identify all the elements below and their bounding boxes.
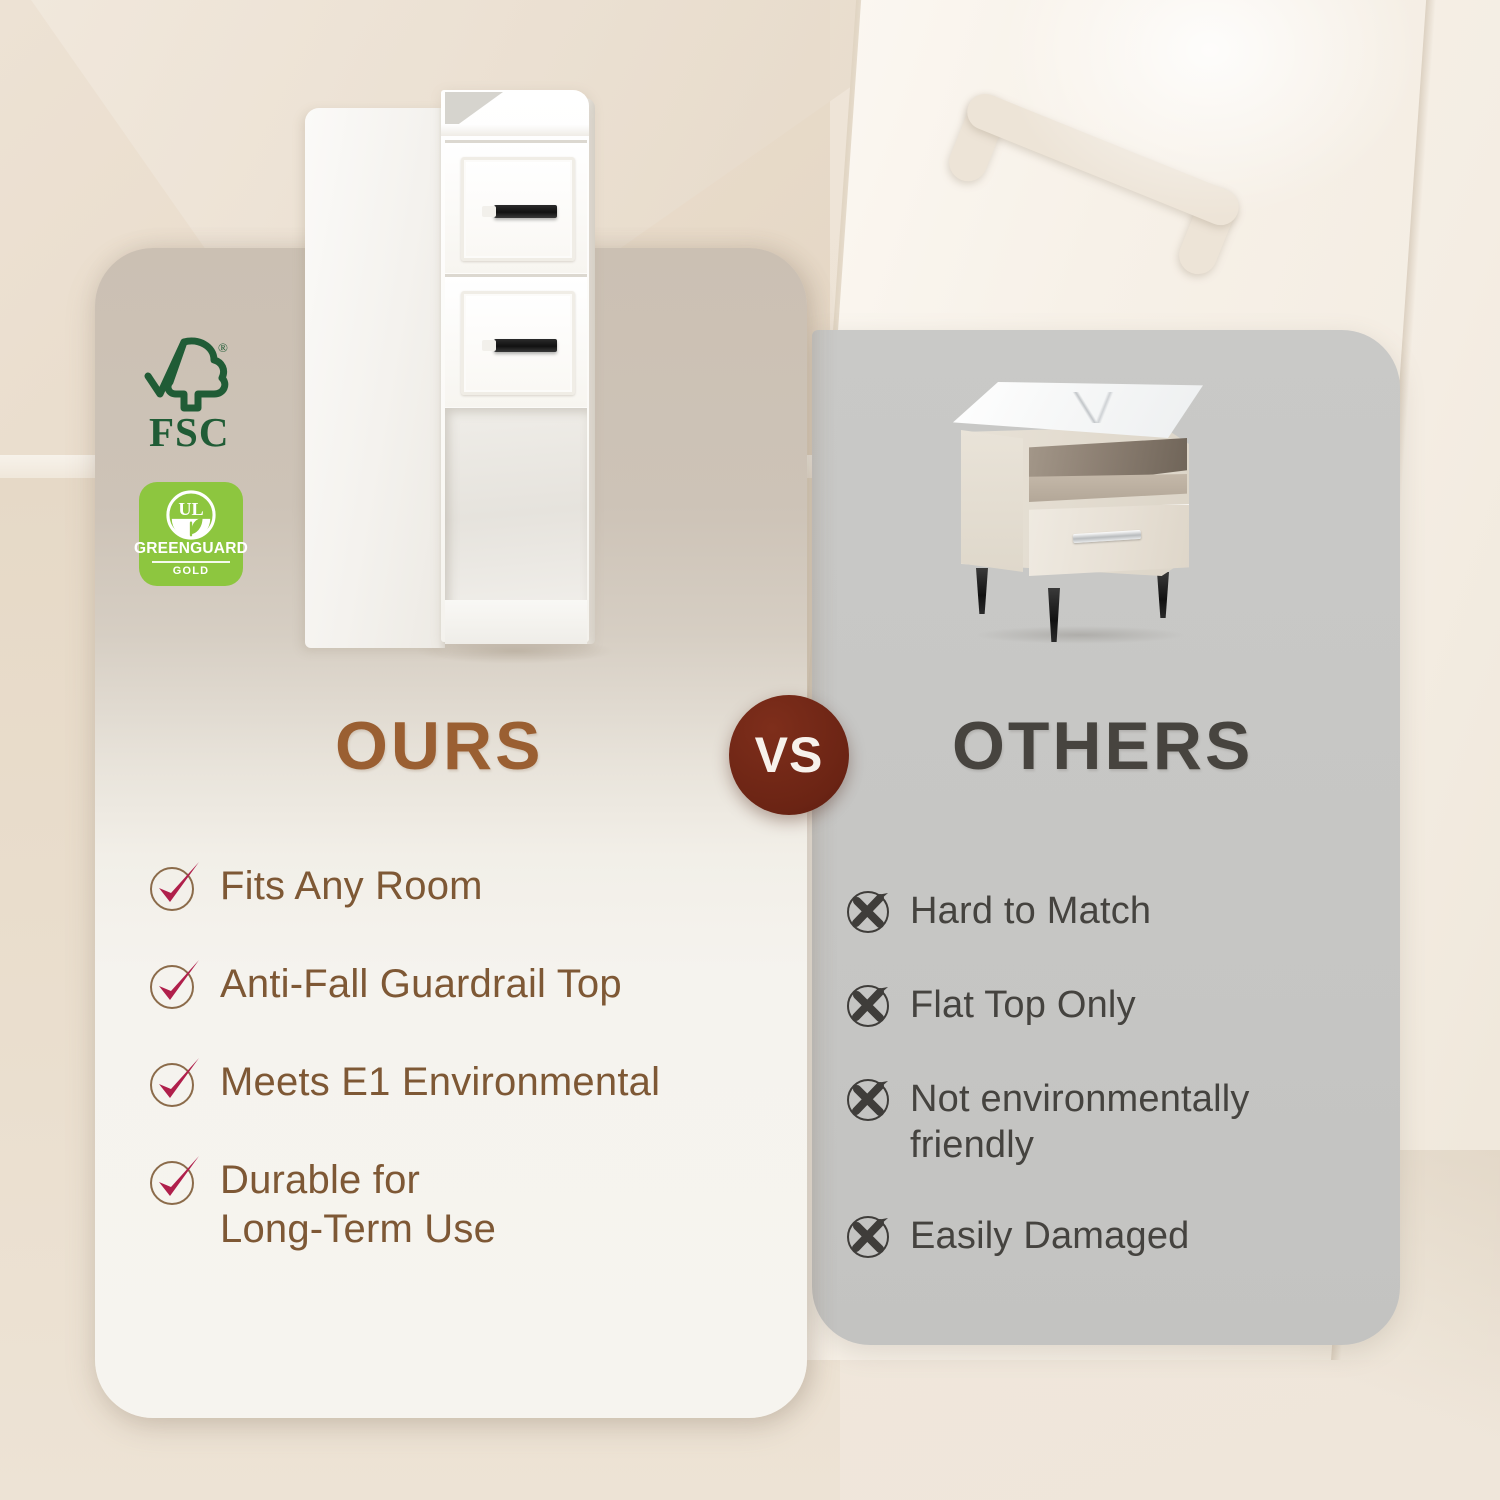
cabinet-drawer-panel bbox=[461, 157, 575, 261]
greenguard-label: GREENGUARD bbox=[134, 541, 248, 557]
greenguard-tier: GOLD bbox=[173, 566, 210, 577]
cabinet-side-panel bbox=[305, 108, 445, 648]
cabinet-black-handle-icon bbox=[494, 339, 557, 352]
x-circle-icon bbox=[844, 886, 894, 936]
others-drawback-list: Hard to Match Flat Top Only bbox=[844, 888, 1364, 1307]
x-circle-icon bbox=[844, 1074, 894, 1124]
check-circle-icon bbox=[146, 956, 202, 1012]
list-item: Not environmentally friendly bbox=[844, 1076, 1364, 1169]
x-circle-icon bbox=[844, 980, 894, 1030]
cabinet-open-shelf bbox=[445, 408, 587, 644]
vs-label: VS bbox=[755, 730, 824, 780]
list-item-label: Durable for bbox=[220, 1158, 420, 1202]
list-item: Fits Any Room bbox=[146, 862, 766, 918]
nightstand-leg bbox=[976, 568, 988, 614]
check-circle-icon bbox=[146, 858, 202, 914]
list-item: Durable for Long-Term Use bbox=[146, 1156, 766, 1254]
comparison-infographic: ® FSC UL GREENGUARD GOLD bbox=[0, 0, 1500, 1500]
nightstand-marble-top bbox=[953, 382, 1203, 438]
cabinet-black-handle-icon bbox=[494, 205, 557, 218]
cabinet-drawer-bottom bbox=[445, 274, 587, 407]
nightstand-side-panel bbox=[961, 430, 1023, 572]
list-item-label: Easily Damaged bbox=[910, 1213, 1190, 1259]
list-item: Easily Damaged bbox=[844, 1213, 1364, 1263]
list-item: Anti-Fall Guardrail Top bbox=[146, 960, 766, 1016]
background-light-glow bbox=[1000, 0, 1420, 220]
greenguard-divider bbox=[152, 561, 230, 563]
others-product-shadow bbox=[975, 626, 1185, 644]
list-item-label-line2: friendly bbox=[910, 1124, 1034, 1166]
list-item-label: Fits Any Room bbox=[220, 862, 483, 911]
check-circle-icon bbox=[146, 1054, 202, 1110]
ours-heading: OURS bbox=[335, 712, 543, 780]
cabinet-drawer-panel bbox=[461, 291, 575, 395]
nightstand-leg bbox=[1157, 572, 1169, 618]
x-circle-icon bbox=[844, 1211, 894, 1261]
list-item: Meets E1 Environmental bbox=[146, 1058, 766, 1114]
check-circle-icon bbox=[146, 1152, 202, 1208]
list-item-label: Anti-Fall Guardrail Top bbox=[220, 960, 622, 1009]
greenguard-gold-badge: UL GREENGUARD GOLD bbox=[139, 482, 243, 586]
cabinet-shelf-floor bbox=[445, 600, 587, 644]
fsc-label: FSC bbox=[149, 409, 229, 455]
fsc-tree-checkmark-icon: ® FSC bbox=[140, 336, 250, 456]
cabinet-top-lip bbox=[441, 124, 589, 136]
others-product-image bbox=[945, 382, 1220, 632]
list-item: Flat Top Only bbox=[844, 982, 1364, 1032]
others-heading: OTHERS bbox=[952, 712, 1253, 780]
list-item-label: Hard to Match bbox=[910, 888, 1151, 934]
list-item: Hard to Match bbox=[844, 888, 1364, 938]
cabinet-drawer-top bbox=[445, 140, 587, 273]
ul-greenguard-leaf-icon: UL bbox=[166, 490, 216, 540]
ours-product-image bbox=[305, 90, 595, 650]
fsc-certification-badge: ® FSC bbox=[140, 336, 250, 456]
list-item-label: Meets E1 Environmental bbox=[220, 1058, 660, 1107]
vs-badge: VS bbox=[729, 695, 849, 815]
fsc-registered-mark: ® bbox=[218, 340, 228, 355]
ours-feature-list: Fits Any Room Anti-Fall Guardrail Top Me… bbox=[146, 862, 766, 1296]
list-item-label: Not environmentally bbox=[910, 1078, 1250, 1120]
list-item-label-line2: Long-Term Use bbox=[220, 1207, 496, 1251]
list-item-label: Flat Top Only bbox=[910, 982, 1136, 1028]
svg-text:UL: UL bbox=[178, 499, 203, 519]
